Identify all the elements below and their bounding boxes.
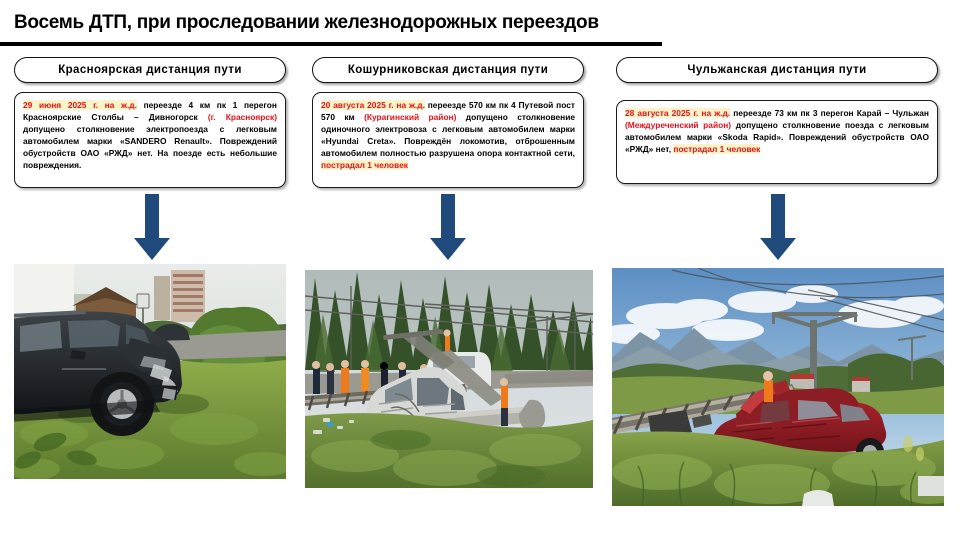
page-title: Восемь ДТП, при проследовании железнодор… — [14, 12, 714, 34]
accident-photo-creta — [305, 270, 593, 488]
incident-card-koshurnikovo: 20 августа 2025 г. на ж.д. переезде 570 … — [312, 92, 584, 188]
incident-casualties: пострадал 1 человек — [673, 144, 760, 154]
down-arrow-icon — [756, 194, 800, 262]
column-header-label: Кошурниковская дистанция пути — [348, 64, 548, 76]
slide-canvas: Восемь ДТП, при проследовании железнодор… — [0, 0, 960, 540]
accident-photo-rapid — [612, 268, 944, 506]
column-header-label: Чульжанская дистанция пути — [687, 64, 866, 76]
incident-location: (Междуреченский район) — [625, 120, 731, 130]
column-header-krasnoyarsk: Красноярская дистанция пути — [14, 57, 286, 83]
column-header-label: Красноярская дистанция пути — [58, 64, 242, 76]
column-header-koshurnikovo: Кошурниковская дистанция пути — [312, 57, 584, 83]
incident-date: 28 августа 2025 г. на ж.д. — [625, 108, 730, 118]
incident-card-chulzhan: 28 августа 2025 г. на ж.д. переезде 73 к… — [616, 100, 938, 184]
accident-photo-sandero — [14, 264, 286, 479]
incident-body-part1: переезде 73 км пк 3 перегон Карай – Чуль… — [730, 108, 929, 118]
down-arrow-icon — [130, 194, 174, 262]
incident-location: (г. Красноярск) — [208, 112, 277, 122]
column-header-chulzhan: Чульжанская дистанция пути — [616, 57, 938, 83]
down-arrow-icon — [426, 194, 470, 262]
incident-location: (Курагинский район) — [364, 112, 456, 122]
incident-date: 20 августа 2025 г. на ж.д. — [321, 100, 425, 110]
incident-card-krasnoyarsk: 29 июня 2025 г. на ж.д. переезде 4 км пк… — [14, 92, 286, 188]
title-underline-rule — [0, 42, 662, 46]
incident-body-part2: допущено столкновение электропоезда с ле… — [23, 124, 277, 170]
incident-casualties: пострадал 1 человек — [321, 160, 408, 170]
incident-date: 29 июня 2025 г. на ж.д. — [23, 100, 137, 110]
